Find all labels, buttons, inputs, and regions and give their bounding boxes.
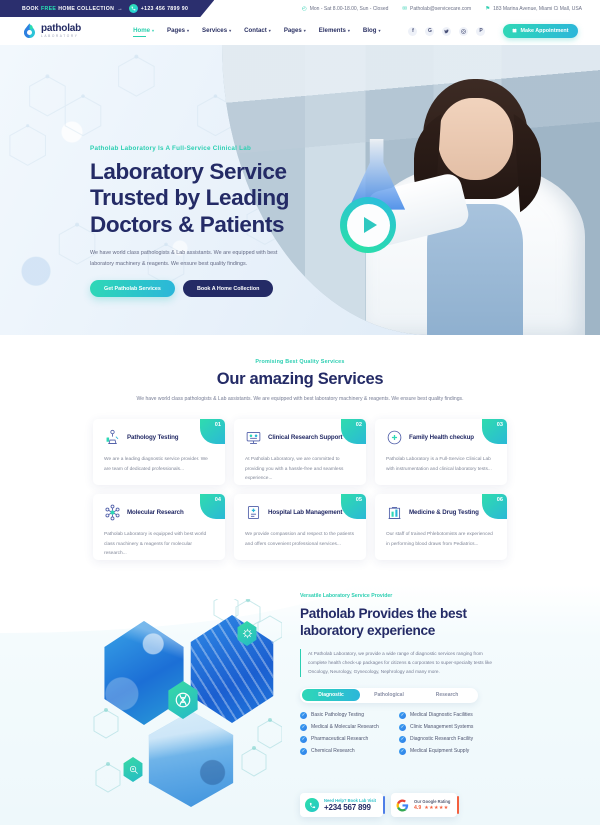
rating-value: 4.9: [414, 805, 421, 811]
nav-item-pages[interactable]: Pages ▾: [167, 27, 189, 35]
nav-item-services[interactable]: Services ▾: [202, 27, 231, 35]
about-title-line1: Patholab Provides the best: [300, 605, 492, 622]
feature-item: ✓ Chemical Research: [300, 748, 393, 755]
hero-section: Patholab Laboratory Is A Full-Service Cl…: [0, 45, 600, 335]
scientist-photo: [366, 62, 585, 335]
phone-number[interactable]: +234 567 899: [324, 803, 376, 812]
nav-label-pages-2: Pages: [284, 27, 302, 34]
nav-item-blog[interactable]: Blog ▾: [363, 27, 381, 35]
email-text[interactable]: Patholab@servicecare.com: [410, 6, 471, 12]
molecule-icon: [104, 504, 121, 521]
envelope-icon: ✉: [402, 6, 407, 12]
nav-label-elements: Elements: [319, 27, 346, 34]
about-title: Patholab Provides the best laboratory ex…: [300, 605, 492, 640]
promo-phone[interactable]: +123 456 7899 90: [141, 6, 189, 12]
phone-icon: [305, 798, 319, 812]
card-title: Hospital Lab Management: [268, 509, 342, 516]
nav-label-pages: Pages: [167, 27, 185, 34]
hero-title: Laboratory Service Trusted by Leading Do…: [90, 159, 320, 238]
feature-label: Medical Equipment Supply: [410, 748, 469, 754]
hero-play-button[interactable]: [340, 197, 396, 253]
nav-item-home[interactable]: Home ▾: [133, 27, 154, 35]
feature-label: Chemical Research: [311, 748, 355, 754]
card-text: We are a leading diagnostic service prov…: [104, 455, 214, 474]
services-section: Promising Best Quality Services Our amaz…: [0, 335, 600, 585]
services-title: Our amazing Services: [0, 370, 600, 389]
get-services-button[interactable]: Get Patholab Services: [90, 280, 175, 297]
phone-icon: [129, 4, 138, 13]
arrow-icon: →: [117, 6, 123, 12]
hero-eyebrow: Patholab Laboratory Is A Full-Service Cl…: [90, 145, 320, 152]
about-eyebrow: Versatile Laboratory Service Provider: [300, 593, 492, 599]
business-hours-text: Mon - Sat 8.00-18.00, Sun - Closed: [310, 6, 389, 12]
service-card-clinical-research-support[interactable]: 02 Clinical Research Support At Patholab…: [234, 419, 366, 485]
hero-title-line1: Laboratory Service: [90, 159, 320, 185]
logo-name: patholab: [41, 24, 81, 34]
business-hours: ◴ Mon - Sat 8.00-18.00, Sun - Closed: [302, 6, 388, 12]
nav-label-blog: Blog: [363, 27, 377, 34]
make-appointment-button[interactable]: Make Appointment: [503, 24, 577, 38]
service-card-pathology-testing[interactable]: 01 Pathology Testing We are a leading di…: [93, 419, 225, 485]
hero-title-line2: Trusted by Leading: [90, 185, 320, 211]
check-icon: ✓: [300, 736, 307, 743]
top-bar: BOOK FREE HOME COLLECTION → +123 456 789…: [0, 0, 600, 17]
book-collection-button[interactable]: Book A Home Collection: [183, 280, 274, 297]
topbar-info: ◴ Mon - Sat 8.00-18.00, Sun - Closed ✉ P…: [302, 6, 600, 12]
twitter-icon[interactable]: [442, 27, 451, 36]
feature-label: Diagnostic Research Facility: [410, 736, 473, 742]
card-text: Patholab Laboratory is a Full-Service Cl…: [386, 455, 496, 474]
calendar-icon: [512, 28, 517, 35]
social-links: f G P: [408, 27, 485, 36]
service-card-hospital-lab-management[interactable]: 05 Hospital Lab Management We provide co…: [234, 494, 366, 560]
phone-contact-box[interactable]: Need Help? Book Lab Visit +234 567 899: [300, 793, 383, 817]
email-info[interactable]: ✉ Patholab@servicecare.com: [402, 6, 471, 12]
card-title: Clinical Research Support: [268, 434, 343, 441]
rating-stars: ★★★★★: [424, 805, 448, 811]
address-text: 183 Marina Avenue, Miami Ci Mall, USA: [493, 6, 582, 12]
feature-item: ✓ Pharmaceutical Research: [300, 736, 393, 743]
nav-label-services: Services: [202, 27, 227, 34]
google-icon[interactable]: G: [425, 27, 434, 36]
check-icon: ✓: [399, 736, 406, 743]
pinterest-icon[interactable]: P: [476, 27, 485, 36]
card-title: Pathology Testing: [127, 434, 178, 441]
feature-item: ✓ Medical Equipment Supply: [399, 748, 492, 755]
hero-buttons: Get Patholab Services Book A Home Collec…: [90, 280, 320, 297]
check-icon: ✓: [399, 748, 406, 755]
logo-drop-icon: [22, 23, 37, 39]
promo-suffix: HOME COLLECTION: [58, 6, 114, 12]
service-card-medicine-drug-testing[interactable]: 06 Medicine & Drug Testing Our staff of …: [375, 494, 507, 560]
check-icon: ✓: [300, 724, 307, 731]
drug-testing-icon: [386, 504, 403, 521]
nav-item-elements[interactable]: Elements ▾: [319, 27, 350, 35]
feature-label: Basic Pathology Testing: [311, 712, 364, 718]
check-icon: ✓: [399, 712, 406, 719]
hero-title-line3: Doctors & Patients: [90, 212, 320, 238]
chevron-down-icon: ▾: [269, 28, 271, 33]
play-button-inner: [347, 204, 390, 247]
promo-banner: BOOK FREE HOME COLLECTION → +123 456 789…: [0, 0, 214, 17]
feature-label: Pharmaceutical Research: [311, 736, 368, 742]
address-info: ⚑ 183 Marina Avenue, Miami Ci Mall, USA: [485, 6, 582, 12]
nav-item-pages-2[interactable]: Pages ▾: [284, 27, 306, 35]
face: [438, 98, 513, 180]
google-rating-box[interactable]: Our Google Rating 4.9 ★★★★★: [391, 793, 457, 817]
nav-label-home: Home: [133, 27, 150, 34]
chevron-down-icon: ▾: [348, 28, 350, 33]
chevron-down-icon: ▾: [378, 28, 380, 33]
chevron-down-icon: ▾: [187, 28, 189, 33]
hero-content: Patholab Laboratory Is A Full-Service Cl…: [90, 145, 320, 297]
play-icon: [364, 217, 377, 233]
promo-prefix: BOOK: [22, 6, 39, 12]
instagram-icon[interactable]: [459, 27, 468, 36]
card-title: Medicine & Drug Testing: [409, 509, 479, 516]
hospital-lab-icon: [245, 504, 262, 521]
services-description: We have world class pathologists & Lab a…: [0, 395, 600, 405]
about-section: Versatile Laboratory Service Provider Pa…: [0, 585, 600, 825]
location-icon: ⚑: [485, 6, 490, 12]
about-contact-row: Need Help? Book Lab Visit +234 567 899 O…: [300, 793, 457, 817]
card-text: At Patholab Laboratory, we are committed…: [245, 455, 355, 484]
service-card-molecular-research[interactable]: 04 Molecular Research Patholab Laborator…: [93, 494, 225, 560]
card-text: Our staff of trained Phlebotomists are e…: [386, 530, 496, 549]
about-description: At Patholab Laboratory, we provide a wid…: [300, 649, 492, 677]
chevron-down-icon: ▾: [152, 28, 154, 33]
promo-highlight: FREE: [41, 6, 56, 12]
card-title: Family Health checkup: [409, 434, 474, 441]
check-icon: ✓: [300, 748, 307, 755]
tab-research[interactable]: Research: [418, 689, 476, 701]
nav-menu: Home ▾ Pages ▾ Services ▾ Contact ▾ Page…: [133, 27, 380, 35]
feature-list: ✓ Basic Pathology Testing ✓ Medical Diag…: [300, 712, 492, 755]
about-content: Versatile Laboratory Service Provider Pa…: [300, 593, 492, 755]
feature-label: Clinic Management Systems: [410, 724, 473, 730]
google-icon: [396, 799, 409, 812]
feature-item: ✓ Clinic Management Systems: [399, 724, 492, 731]
microscope-icon: [104, 429, 121, 446]
services-card-grid: 01 Pathology Testing We are a leading di…: [93, 419, 507, 560]
research-board-icon: [245, 429, 262, 446]
feature-item: ✓ Medical & Molecular Research: [300, 724, 393, 731]
facebook-icon[interactable]: f: [408, 27, 417, 36]
tab-diagnostic[interactable]: Diagnostic: [302, 689, 360, 701]
feature-label: Medical & Molecular Research: [311, 724, 379, 730]
check-icon: ✓: [300, 712, 307, 719]
main-navbar: patholab LABORATORY Home ▾ Pages ▾ Servi…: [0, 17, 600, 45]
chevron-down-icon: ▾: [229, 28, 231, 33]
site-logo[interactable]: patholab LABORATORY: [22, 23, 81, 39]
nav-item-contact[interactable]: Contact ▾: [244, 27, 271, 35]
service-card-family-health-checkup[interactable]: 03 Family Health checkup Patholab Labora…: [375, 419, 507, 485]
family-health-icon: [386, 429, 403, 446]
services-eyebrow: Promising Best Quality Services: [0, 359, 600, 365]
nav-label-contact: Contact: [244, 27, 267, 34]
logo-subtitle: LABORATORY: [41, 35, 81, 38]
chevron-down-icon: ▾: [304, 28, 306, 33]
about-tabs: Diagnostic Pathological Research: [300, 688, 478, 703]
feature-item: ✓ Medical Diagnostic Facilities: [399, 712, 492, 719]
card-text: Patholab Laboratory is equipped with bes…: [104, 530, 214, 559]
card-title: Molecular Research: [127, 509, 184, 516]
clock-icon: ◴: [302, 6, 307, 12]
card-text: We provide compassion and respect to the…: [245, 530, 355, 549]
feature-item: ✓ Basic Pathology Testing: [300, 712, 393, 719]
check-icon: ✓: [399, 724, 406, 731]
hero-description: We have world class pathologists & Lab a…: [90, 248, 295, 270]
about-illustration: [86, 599, 282, 799]
about-title-line2: laboratory experience: [300, 622, 492, 639]
feature-item: ✓ Diagnostic Research Facility: [399, 736, 492, 743]
tab-pathological[interactable]: Pathological: [360, 689, 418, 701]
feature-label: Medical Diagnostic Facilities: [410, 712, 473, 718]
appointment-label: Make Appointment: [520, 28, 568, 34]
